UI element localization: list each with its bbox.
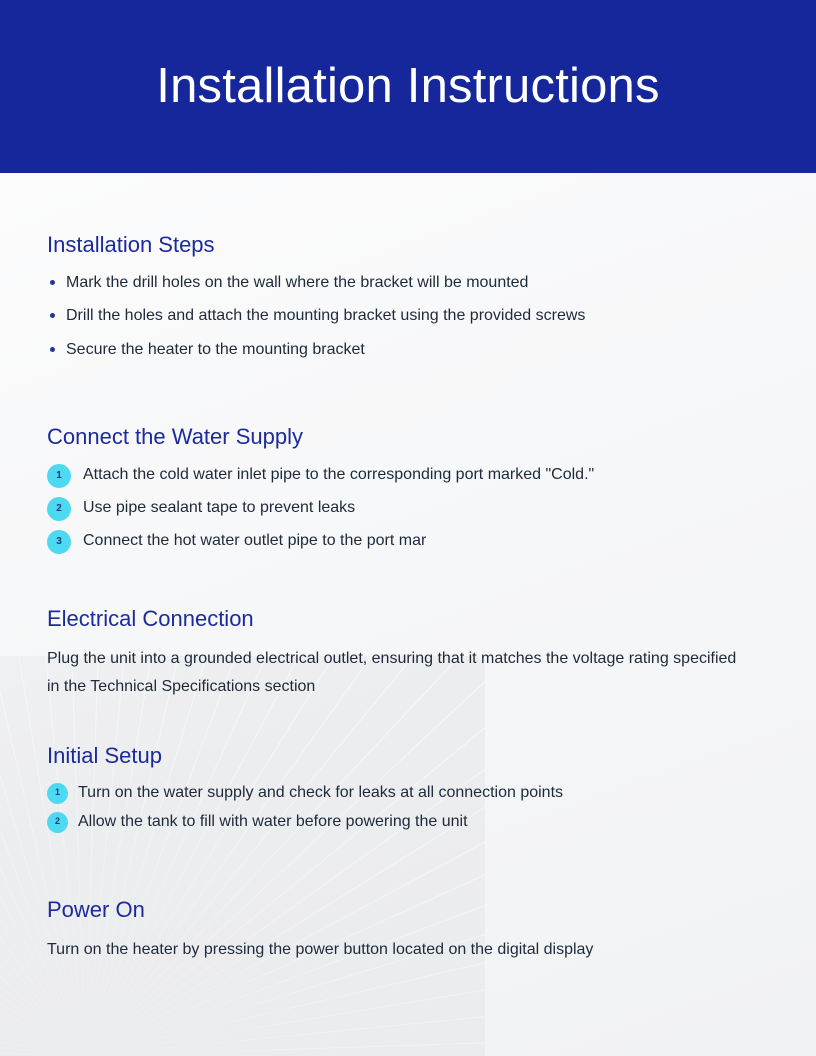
section-heading-power-on: Power On bbox=[47, 896, 769, 924]
section-heading-initial-setup: Initial Setup bbox=[47, 742, 769, 770]
section-paragraph-power-on: Turn on the heater by pressing the power… bbox=[47, 936, 747, 964]
document-header: Installation Instructions bbox=[0, 0, 816, 173]
list-item-text: Attach the cold water inlet pipe to the … bbox=[83, 465, 769, 486]
list-item: 1 Turn on the water supply and check for… bbox=[47, 783, 769, 804]
list-item: Secure the heater to the mounting bracke… bbox=[47, 339, 769, 361]
list-item: 2 Allow the tank to fill with water befo… bbox=[47, 812, 769, 833]
section-initial-setup: Initial Setup 1 Turn on the water supply… bbox=[47, 742, 769, 833]
list-item-text: Secure the heater to the mounting bracke… bbox=[66, 341, 365, 358]
section-spacer bbox=[47, 372, 769, 423]
section-heading-electrical-connection: Electrical Connection bbox=[47, 605, 769, 633]
numbered-list-initial-setup: 1 Turn on the water supply and check for… bbox=[47, 783, 769, 833]
list-item: 3 Connect the hot water outlet pipe to t… bbox=[47, 530, 769, 554]
step-number-badge: 2 bbox=[47, 497, 71, 521]
section-paragraph-electrical-connection: Plug the unit into a grounded electrical… bbox=[47, 645, 747, 700]
list-item-text: Turn on the water supply and check for l… bbox=[78, 783, 769, 804]
document-content: Installation Steps Mark the drill holes … bbox=[0, 173, 816, 964]
list-item: 2 Use pipe sealant tape to prevent leaks bbox=[47, 497, 769, 521]
list-item: Drill the holes and attach the mounting … bbox=[47, 305, 769, 327]
section-spacer bbox=[47, 700, 769, 742]
list-item-text: Use pipe sealant tape to prevent leaks bbox=[83, 498, 769, 519]
list-item: Mark the drill holes on the wall where t… bbox=[47, 272, 769, 294]
list-item-text: Mark the drill holes on the wall where t… bbox=[66, 274, 528, 291]
section-heading-installation-steps: Installation Steps bbox=[47, 231, 769, 259]
section-electrical-connection: Electrical Connection Plug the unit into… bbox=[47, 605, 769, 701]
document-page: Installation Instructions Installation S… bbox=[0, 0, 816, 1056]
step-number-badge: 3 bbox=[47, 530, 71, 554]
list-item: 1 Attach the cold water inlet pipe to th… bbox=[47, 464, 769, 488]
section-heading-connect-the-water-supply: Connect the Water Supply bbox=[47, 423, 769, 451]
bullet-list-installation-steps: Mark the drill holes on the wall where t… bbox=[47, 272, 769, 361]
step-number-badge: 2 bbox=[47, 812, 68, 833]
list-item-text: Drill the holes and attach the mounting … bbox=[66, 307, 585, 324]
list-item-text: Allow the tank to fill with water before… bbox=[78, 812, 769, 833]
step-number-badge: 1 bbox=[47, 464, 71, 488]
section-spacer bbox=[47, 563, 769, 605]
section-installation-steps: Installation Steps Mark the drill holes … bbox=[47, 231, 769, 360]
step-number-badge: 1 bbox=[47, 783, 68, 804]
section-connect-the-water-supply: Connect the Water Supply 1 Attach the co… bbox=[47, 423, 769, 554]
list-item-text: Connect the hot water outlet pipe to the… bbox=[83, 531, 769, 552]
section-spacer bbox=[47, 841, 769, 896]
page-title: Installation Instructions bbox=[156, 60, 659, 114]
section-power-on: Power On Turn on the heater by pressing … bbox=[47, 896, 769, 964]
numbered-list-connect-the-water-supply: 1 Attach the cold water inlet pipe to th… bbox=[47, 464, 769, 554]
